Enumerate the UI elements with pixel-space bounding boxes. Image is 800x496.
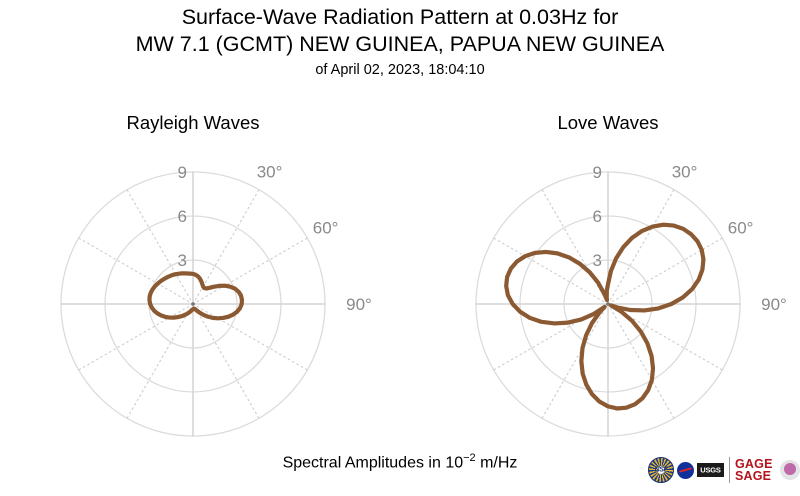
- rayleigh-polar-plot: 36930°60°90°: [33, 150, 353, 496]
- radial-tick-label-9: 9: [593, 163, 602, 182]
- sponsor-logo-strip: GAGE SAGE Operated by EarthScope Consort…: [648, 452, 796, 488]
- chart-title-block: Surface-Wave Radiation Pattern at 0.03Hz…: [0, 4, 800, 82]
- angular-spoke-210: [127, 304, 193, 418]
- angular-tick-label-30: 30°: [257, 162, 283, 181]
- gage-sage-logo: GAGE SAGE: [735, 458, 773, 482]
- usgs-logo-icon: [697, 463, 724, 477]
- nasa-logo-icon: [677, 462, 694, 479]
- love-polar-plot: 36930°60°90°: [448, 150, 768, 496]
- radial-tick-label-3: 3: [593, 251, 602, 270]
- rayleigh-subplot-title: Rayleigh Waves: [43, 112, 343, 134]
- rayleigh-polar-svg: 36930°60°90°: [33, 150, 353, 496]
- radiation-pattern-curve: [149, 273, 241, 318]
- title-line-2: MW 7.1 (GCMT) NEW GUINEA, PAPUA NEW GUIN…: [0, 31, 800, 58]
- angular-spoke-30: [608, 190, 674, 304]
- earthscope-logo: Operated by EarthScope Consortium: [780, 457, 800, 484]
- earthscope-mark-icon: [780, 460, 800, 480]
- radial-tick-label-6: 6: [593, 207, 602, 226]
- radial-tick-label-3: 3: [178, 251, 187, 270]
- angular-tick-label-60: 60°: [313, 218, 339, 237]
- radiation-pattern-curve: [506, 225, 703, 409]
- title-subtitle-datetime: of April 02, 2023, 18:04:10: [0, 58, 800, 82]
- radial-tick-label-9: 9: [178, 163, 187, 182]
- angular-spoke-240: [79, 304, 193, 370]
- polar-center-point: [191, 302, 195, 306]
- angular-spoke-150: [193, 304, 259, 418]
- title-line-1: Surface-Wave Radiation Pattern at 0.03Hz…: [0, 4, 800, 31]
- angular-tick-label-30: 30°: [672, 162, 698, 181]
- caption-exponent: −2: [463, 452, 476, 464]
- angular-spoke-300: [79, 238, 193, 304]
- radial-tick-label-6: 6: [178, 207, 187, 226]
- angular-tick-label-90: 90°: [761, 295, 787, 314]
- angular-spoke-120: [193, 304, 307, 370]
- caption-prefix: Spectral Amplitudes in 10: [283, 454, 464, 471]
- sage-label: SAGE: [735, 470, 773, 482]
- logo-divider: [729, 457, 730, 483]
- love-subplot-title: Love Waves: [458, 112, 758, 134]
- angular-tick-label-90: 90°: [346, 295, 372, 314]
- nsf-logo-icon: [648, 457, 674, 483]
- love-polar-svg: 36930°60°90°: [448, 150, 768, 496]
- angular-tick-label-60: 60°: [728, 218, 754, 237]
- angular-spoke-60: [193, 238, 307, 304]
- caption-suffix: m/Hz: [476, 454, 518, 471]
